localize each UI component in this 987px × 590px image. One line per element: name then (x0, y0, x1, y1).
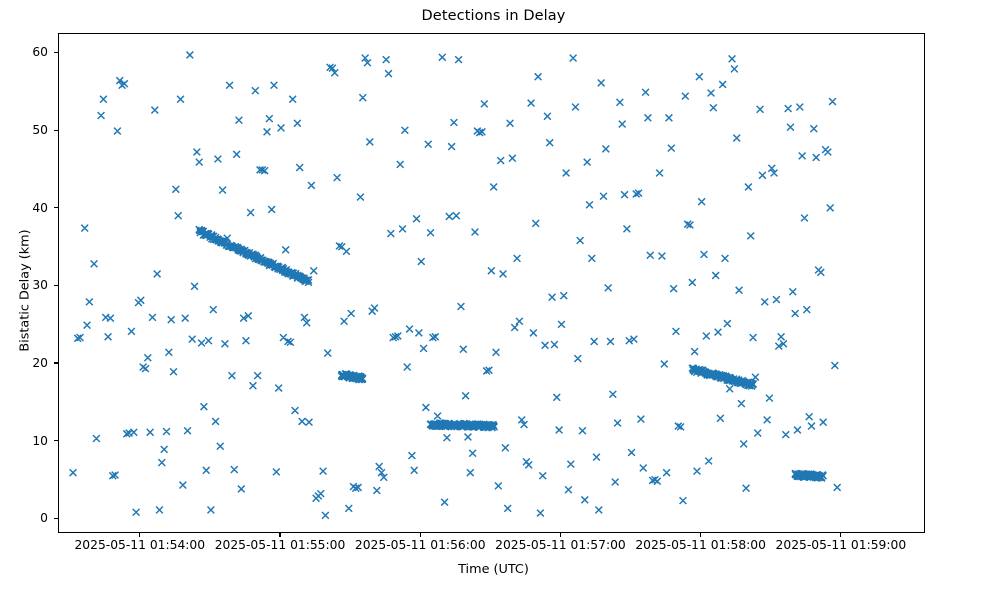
y-tick-mark (54, 52, 58, 53)
y-tick-mark (54, 362, 58, 363)
y-tick-mark (54, 285, 58, 286)
scatter-series (59, 34, 925, 533)
y-tick-label: 50 (0, 123, 48, 137)
y-tick-label: 10 (0, 434, 48, 448)
y-tick-label: 0 (0, 511, 48, 525)
y-tick-label: 60 (0, 45, 48, 59)
matplotlib-figure: Detections in Delay 0102030405060 2025-0… (0, 0, 987, 590)
x-tick-label: 2025-05-11 01:59:00 (776, 538, 907, 552)
x-tick-label: 2025-05-11 01:56:00 (355, 538, 486, 552)
x-tick-mark (139, 533, 140, 537)
x-axis-label: Time (UTC) (0, 562, 987, 577)
x-tick-mark (420, 533, 421, 537)
x-tick-mark (560, 533, 561, 537)
y-tick-mark (54, 440, 58, 441)
x-tick-label: 2025-05-11 01:55:00 (215, 538, 346, 552)
y-tick-mark (54, 130, 58, 131)
x-tick-mark (279, 533, 280, 537)
x-tick-label: 2025-05-11 01:57:00 (495, 538, 626, 552)
chart-title: Detections in Delay (0, 8, 987, 24)
x-tick-mark (840, 533, 841, 537)
y-axis-label: Bistatic Delay (km) (18, 191, 33, 391)
x-tick-label: 2025-05-11 01:58:00 (635, 538, 766, 552)
x-tick-mark (700, 533, 701, 537)
plot-axes-area (58, 33, 925, 533)
x-tick-label: 2025-05-11 01:54:00 (74, 538, 205, 552)
scatter-markers (70, 52, 841, 519)
y-tick-mark (54, 207, 58, 208)
y-tick-mark (54, 518, 58, 519)
